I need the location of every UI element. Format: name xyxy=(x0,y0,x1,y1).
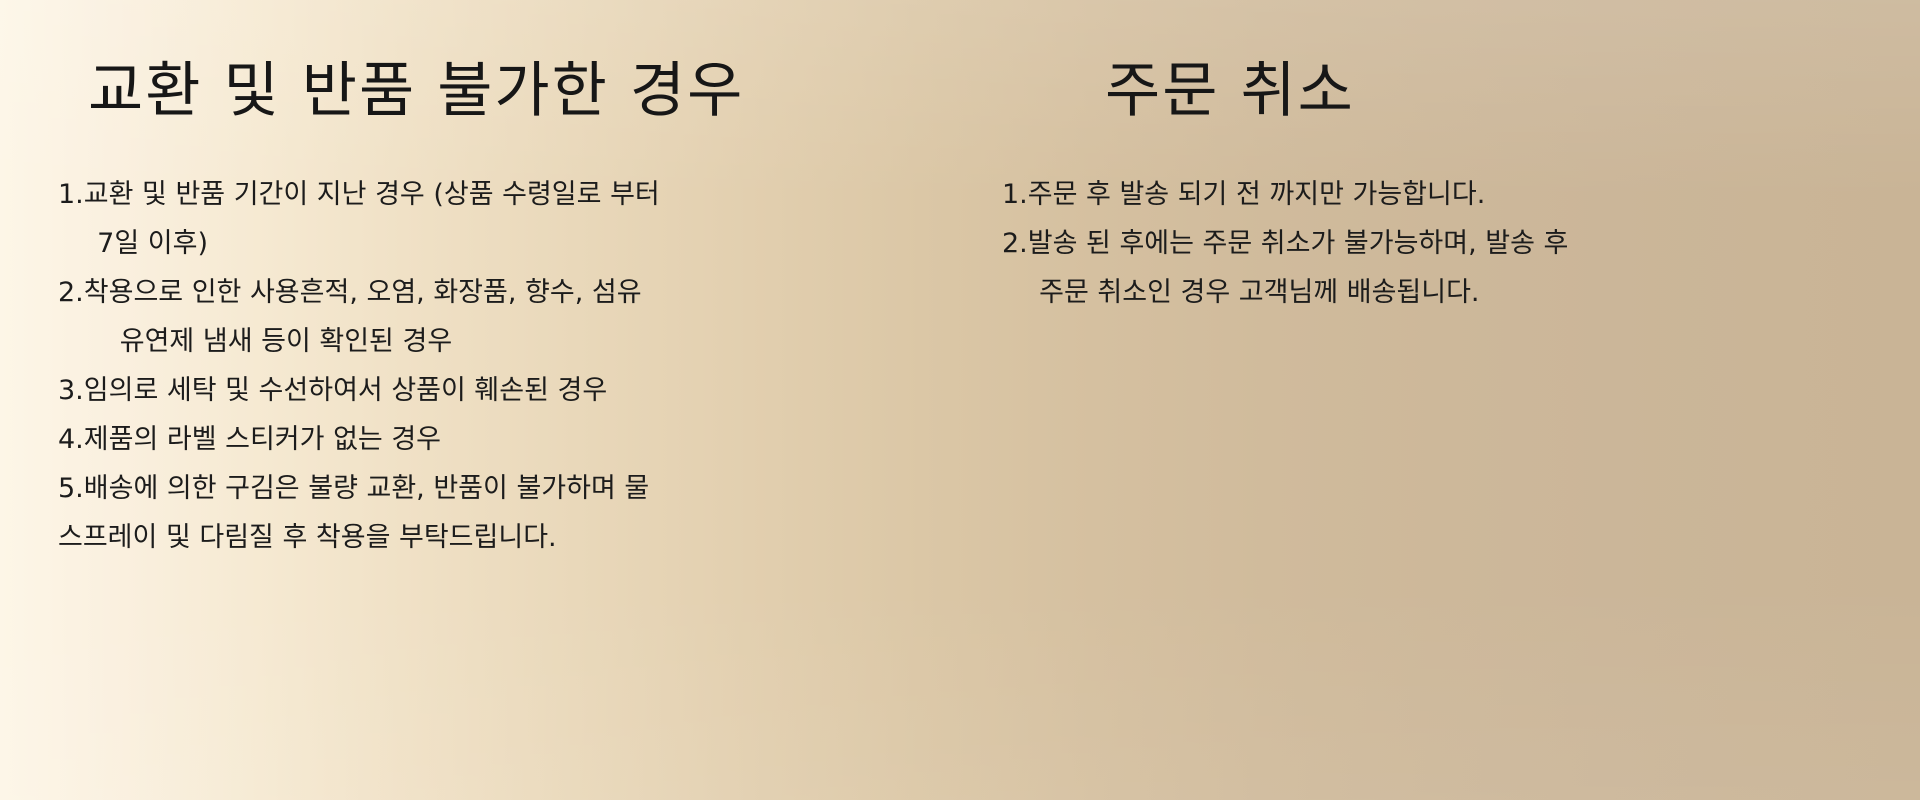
list-item-continuation: 유연제 냄새 등이 확인된 경우 xyxy=(58,317,980,366)
list-item-continuation: 7일 이후) xyxy=(58,219,980,268)
list-item: 1.교환 및 반품 기간이 지난 경우 (상품 수령일로 부터 xyxy=(58,170,980,219)
right-item-list: 1.주문 후 발송 되기 전 까지만 가능합니다. 2.발송 된 후에는 주문 … xyxy=(1002,170,1920,317)
list-item: 5.배송에 의한 구김은 불량 교환, 반품이 불가하며 물 xyxy=(58,464,980,513)
list-item: 4.제품의 라벨 스티커가 없는 경우 xyxy=(58,415,980,464)
exchange-return-restrictions-column: 교환 및 반품 불가한 경우 1.교환 및 반품 기간이 지난 경우 (상품 수… xyxy=(0,0,980,562)
list-item: 2.발송 된 후에는 주문 취소가 불가능하며, 발송 후 xyxy=(1002,219,1920,268)
right-section-title: 주문 취소 xyxy=(1105,58,1920,124)
list-item: 3.임의로 세탁 및 수선하여서 상품이 훼손된 경우 xyxy=(58,366,980,415)
two-column-layout: 교환 및 반품 불가한 경우 1.교환 및 반품 기간이 지난 경우 (상품 수… xyxy=(0,0,1920,800)
list-item-continuation: 스프레이 및 다림질 후 착용을 부탁드립니다. xyxy=(58,513,980,562)
policy-notice-page: 교환 및 반품 불가한 경우 1.교환 및 반품 기간이 지난 경우 (상품 수… xyxy=(0,0,1920,800)
left-section-title: 교환 및 반품 불가한 경우 xyxy=(88,58,980,124)
order-cancel-column: 주문 취소 1.주문 후 발송 되기 전 까지만 가능합니다. 2.발송 된 후… xyxy=(980,0,1920,317)
list-item-continuation: 주문 취소인 경우 고객님께 배송됩니다. xyxy=(1002,268,1920,317)
list-item: 2.착용으로 인한 사용흔적, 오염, 화장품, 향수, 섬유 xyxy=(58,268,980,317)
list-item: 1.주문 후 발송 되기 전 까지만 가능합니다. xyxy=(1002,170,1920,219)
left-item-list: 1.교환 및 반품 기간이 지난 경우 (상품 수령일로 부터 7일 이후) 2… xyxy=(58,170,980,562)
